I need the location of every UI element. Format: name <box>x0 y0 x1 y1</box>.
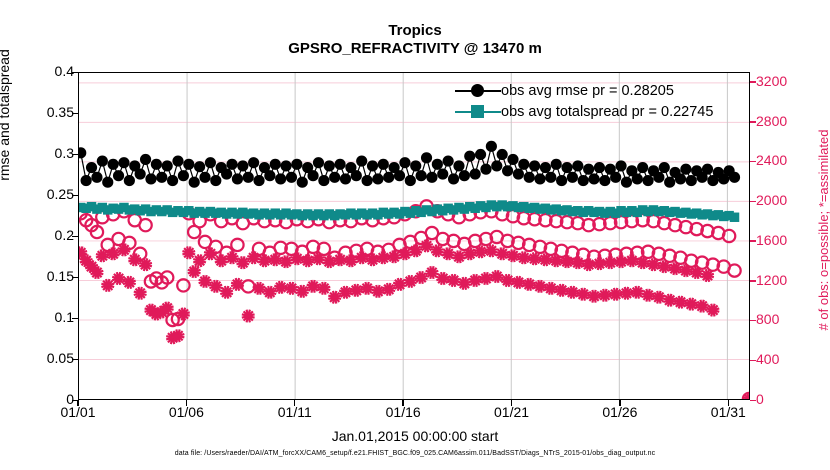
tick-mark <box>186 400 187 406</box>
y-tick-label-left: 0.25 <box>14 186 74 202</box>
legend-item-rmse[interactable]: obs avg rmse pr = 0.28205 <box>455 80 713 101</box>
chart-title-main: Tropics <box>0 22 830 39</box>
x-axis-label: Jan.01,2015 00:00:00 start <box>0 428 830 444</box>
figure-root: Tropics GPSRO_REFRACTIVITY @ 13470 m rms… <box>0 0 830 470</box>
chart-title-sub: GPSRO_REFRACTIVITY @ 13470 m <box>0 40 830 57</box>
y-tick-label-left: 0.05 <box>14 350 74 366</box>
tick-mark <box>750 121 756 122</box>
y-tick-label-right: 1200 <box>756 272 816 288</box>
x-tick-label: 01/01 <box>43 404 113 420</box>
x-tick-label: 01/26 <box>585 404 655 420</box>
x-tick-label: 01/06 <box>151 404 221 420</box>
legend-label: obs avg totalspread pr = 0.22745 <box>501 104 713 120</box>
tick-mark <box>728 400 729 406</box>
x-tick-label: 01/21 <box>477 404 547 420</box>
y-tick-label-right: 2800 <box>756 113 816 129</box>
y-tick-label-left: 0.15 <box>14 268 74 284</box>
x-tick-label: 01/16 <box>368 404 438 420</box>
y-tick-label-left: 0.4 <box>14 63 74 79</box>
y-tick-label-left: 0.3 <box>14 145 74 161</box>
tick-mark <box>77 400 78 406</box>
y-tick-label-left: 0.1 <box>14 309 74 325</box>
legend-swatch <box>471 84 484 97</box>
y-tick-label-right: 2000 <box>756 192 816 208</box>
tick-mark <box>750 400 756 401</box>
tick-mark <box>750 201 756 202</box>
tick-mark <box>750 280 756 281</box>
y-tick-label-right: 800 <box>756 311 816 327</box>
y-tick-label-right: 1600 <box>756 232 816 248</box>
legend-item-totalspread[interactable]: obs avg totalspread pr = 0.22745 <box>455 101 713 122</box>
legend-marker-circle-icon <box>455 80 501 101</box>
y-tick-label-right: 0 <box>756 391 816 407</box>
y-axis-label-right: # of obs: o=possible; *=assimilated <box>816 65 830 395</box>
tick-mark <box>402 400 403 406</box>
tick-mark <box>750 320 756 321</box>
legend-label: obs avg rmse pr = 0.28205 <box>501 83 674 99</box>
y-tick-label-left: 0.2 <box>14 227 74 243</box>
chart-legend: obs avg rmse pr = 0.28205obs avg totalsp… <box>455 80 713 122</box>
data-file-caption: data file: /Users/raeder/DAI/ATM_forcXX/… <box>0 450 830 457</box>
y-tick-label-right: 2400 <box>756 152 816 168</box>
tick-mark <box>750 360 756 361</box>
x-tick-label: 01/11 <box>260 404 330 420</box>
tick-mark <box>750 81 756 82</box>
y-tick-label-right: 3200 <box>756 73 816 89</box>
legend-swatch <box>471 105 484 118</box>
x-tick-label: 01/31 <box>693 404 763 420</box>
y-tick-label-right: 400 <box>756 351 816 367</box>
tick-mark <box>511 400 512 406</box>
tick-mark <box>619 400 620 406</box>
tick-mark <box>750 161 756 162</box>
legend-marker-square-icon <box>455 101 501 122</box>
tick-mark <box>750 240 756 241</box>
y-axis-label-left: rmse and totalspread <box>0 0 12 230</box>
tick-mark <box>294 400 295 406</box>
y-tick-label-left: 0.35 <box>14 104 74 120</box>
